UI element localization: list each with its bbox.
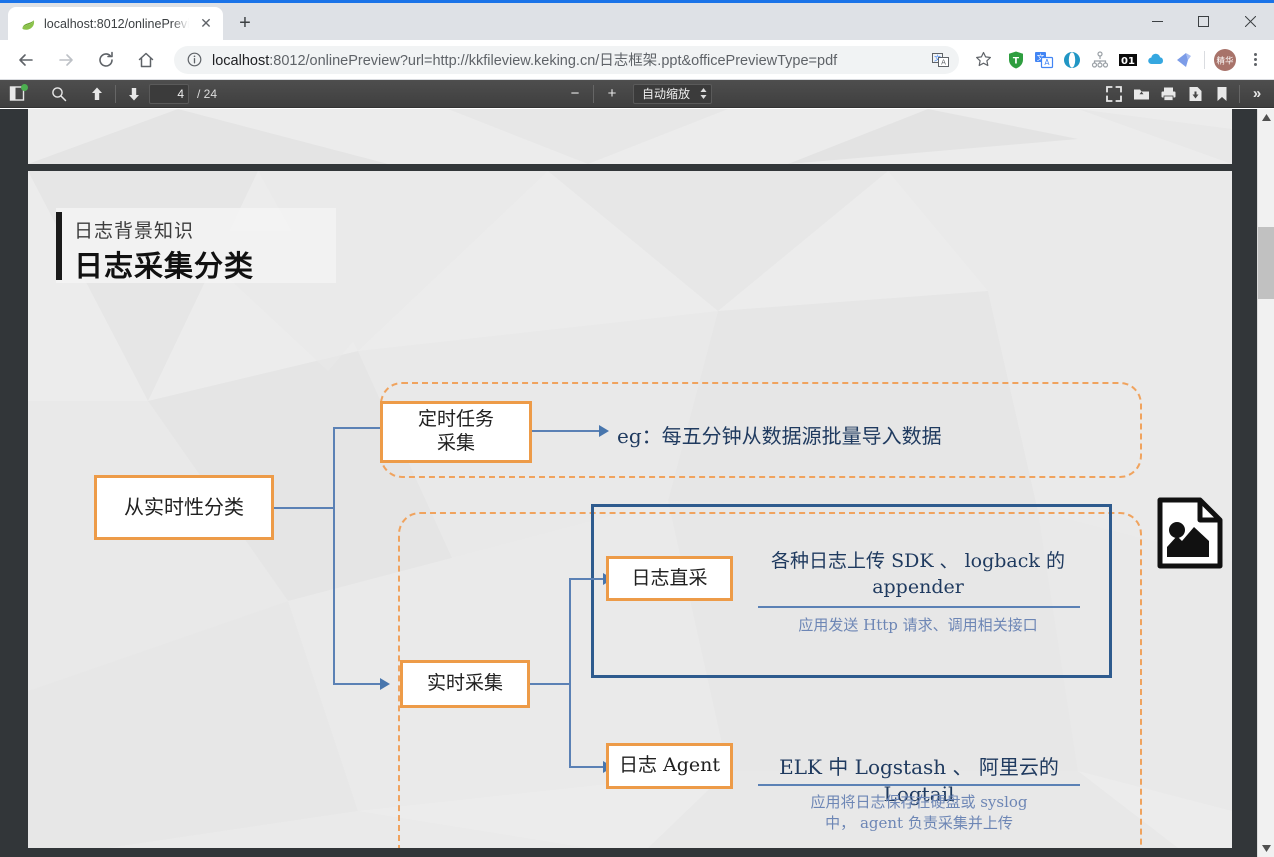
sidebar-toggle-icon[interactable] [4, 82, 30, 106]
svg-text:01: 01 [1121, 56, 1135, 67]
pdf-toolbar: 4 / 24 − + 自动缩放 [0, 80, 1274, 108]
scroll-down-button[interactable] [1258, 840, 1274, 857]
toolbar-divider [1204, 51, 1205, 69]
agent-collection-subnote: 应用将日志保存在硬盘或 syslog 中， agent 负责采集并上传 [748, 792, 1090, 834]
zoom-level-value: 自动缩放 [642, 85, 690, 102]
new-tab-button[interactable]: + [231, 9, 259, 37]
print-icon[interactable] [1155, 82, 1181, 106]
zoom-in-button[interactable]: + [599, 83, 625, 105]
pdf-toolbar-divider [115, 85, 116, 103]
search-icon[interactable] [46, 82, 72, 106]
bookmark-icon[interactable] [1209, 82, 1235, 106]
svg-text:精华: 精华 [1216, 55, 1234, 66]
direct-collection-note: 各种日志上传 SDK 、 logback 的 appender [748, 549, 1088, 600]
connector-to-scheduled [333, 427, 383, 429]
scroll-up-button[interactable] [1258, 109, 1274, 126]
agent-note-divider [758, 784, 1080, 786]
spring-leaf-icon [20, 16, 36, 32]
kite-extension-icon[interactable] [1171, 47, 1197, 73]
connector-root-horizontal [272, 507, 334, 509]
tools-expand-button[interactable]: » [1244, 82, 1270, 106]
home-icon[interactable] [130, 44, 162, 76]
pdf-toolbar-left: 4 / 24 [4, 82, 217, 106]
extensions-row: T 文A 01 精华 [997, 47, 1268, 73]
site-info-icon[interactable] [186, 52, 202, 68]
forward-icon[interactable] [50, 44, 82, 76]
svg-text:A: A [941, 59, 946, 67]
page-number-input[interactable]: 4 [149, 84, 189, 104]
previous-page-icon[interactable] [84, 82, 110, 106]
cloud-extension-icon[interactable] [1143, 47, 1169, 73]
minimize-button[interactable] [1134, 3, 1180, 40]
scheduled-example-text: eg：每五分钟从数据源批量导入数据 [617, 420, 942, 449]
tab-title: localhost:8012/onlinePreview? [44, 17, 189, 31]
arrow-scheduled-to-example [599, 425, 609, 437]
pdf-viewer-area[interactable]: 日志背景知识 日志采集分类 [0, 109, 1274, 857]
connector-to-direct [569, 578, 606, 580]
translate-icon[interactable]: 文 A [929, 49, 951, 71]
tools-divider [1239, 85, 1240, 103]
connector-to-realtime [333, 683, 383, 685]
open-file-icon[interactable] [1128, 82, 1154, 106]
pdf-toolbar-right: » [1101, 82, 1270, 106]
browser-menu-button[interactable] [1242, 47, 1268, 73]
direct-note-divider [758, 606, 1080, 608]
scheduled-collection-box: 定时任务 采集 [380, 401, 532, 463]
realtime-collection-box: 实时采集 [400, 660, 530, 708]
root-classification-box: 从实时性分类 [94, 475, 274, 540]
chevron-updown-icon [700, 88, 707, 99]
bookmark-star-icon[interactable] [969, 46, 997, 74]
adblock-shield-extension-icon[interactable]: T [1003, 47, 1029, 73]
url-host: localhost [212, 53, 269, 69]
connector-realtime-horizontal [530, 683, 570, 685]
address-bar[interactable]: localhost:8012/onlinePreview?url=http://… [174, 46, 959, 74]
zoom-out-button[interactable]: − [562, 83, 588, 105]
browser-tab[interactable]: localhost:8012/onlinePreview? ✕ [8, 7, 223, 40]
url-text: localhost:8012/onlinePreview?url=http://… [212, 49, 925, 70]
download-icon[interactable] [1182, 82, 1208, 106]
navigation-toolbar: localhost:8012/onlinePreview?url=http://… [0, 40, 1274, 80]
avatar[interactable]: 精华 [1212, 47, 1238, 73]
slide-content: 日志背景知识 日志采集分类 [28, 171, 1232, 848]
page-total-label: / 24 [197, 87, 217, 101]
window-controls [1134, 3, 1274, 40]
browser-window: localhost:8012/onlinePreview? ✕ + [0, 0, 1274, 857]
title-accent-bar [56, 212, 62, 280]
agent-collection-box: 日志 Agent [606, 743, 733, 789]
zoom-divider [593, 85, 594, 103]
svg-text:T: T [1013, 56, 1020, 66]
back-icon[interactable] [10, 44, 42, 76]
pdf-page-current: 日志背景知识 日志采集分类 [28, 171, 1232, 848]
agent-subnote-line2: 中， agent 负责采集并上传 [748, 813, 1090, 834]
scheduled-box-line2: 采集 [437, 432, 475, 456]
title-bar: localhost:8012/onlinePreview? ✕ + [0, 0, 1274, 40]
zero-one-extension-icon[interactable]: 01 [1115, 47, 1141, 73]
presentation-mode-icon[interactable] [1101, 82, 1127, 106]
connector-realtime-vertical [569, 578, 571, 768]
url-path: :8012/onlinePreview?url=http://kkfilevie… [269, 53, 837, 69]
broken-image-placeholder-icon [1156, 497, 1224, 569]
connector-to-agent [569, 766, 606, 768]
pdf-zoom-controls: − + 自动缩放 [562, 83, 712, 105]
pdf-page-previous [28, 109, 1232, 164]
vertical-scrollbar[interactable] [1257, 109, 1274, 857]
connector-trunk-vertical [333, 427, 335, 685]
google-translate-extension-icon[interactable]: 文A [1031, 47, 1057, 73]
scheduled-box-line1: 定时任务 [418, 408, 494, 432]
next-page-icon[interactable] [121, 82, 147, 106]
page-title: 日志采集分类 [74, 243, 254, 285]
maximize-button[interactable] [1180, 3, 1226, 40]
reload-icon[interactable] [90, 44, 122, 76]
direct-collection-subnote: 应用发送 Http 请求、调用相关接口 [748, 615, 1088, 636]
opera-circle-extension-icon[interactable] [1059, 47, 1085, 73]
connector-scheduled-to-example [530, 430, 602, 432]
svg-text:A: A [1044, 58, 1050, 67]
agent-subnote-line1: 应用将日志保存在硬盘或 syslog [748, 792, 1090, 813]
scrollbar-thumb[interactable] [1258, 227, 1274, 299]
arrow-to-realtime [380, 678, 390, 690]
close-icon[interactable]: ✕ [197, 15, 215, 33]
direct-collection-box: 日志直采 [606, 556, 733, 601]
tab-strip: localhost:8012/onlinePreview? ✕ + [0, 7, 1134, 40]
slide-subtitle: 日志背景知识 [74, 216, 194, 243]
close-window-button[interactable] [1226, 3, 1274, 40]
network-tree-extension-icon[interactable] [1087, 47, 1113, 73]
zoom-level-select[interactable]: 自动缩放 [633, 84, 712, 104]
